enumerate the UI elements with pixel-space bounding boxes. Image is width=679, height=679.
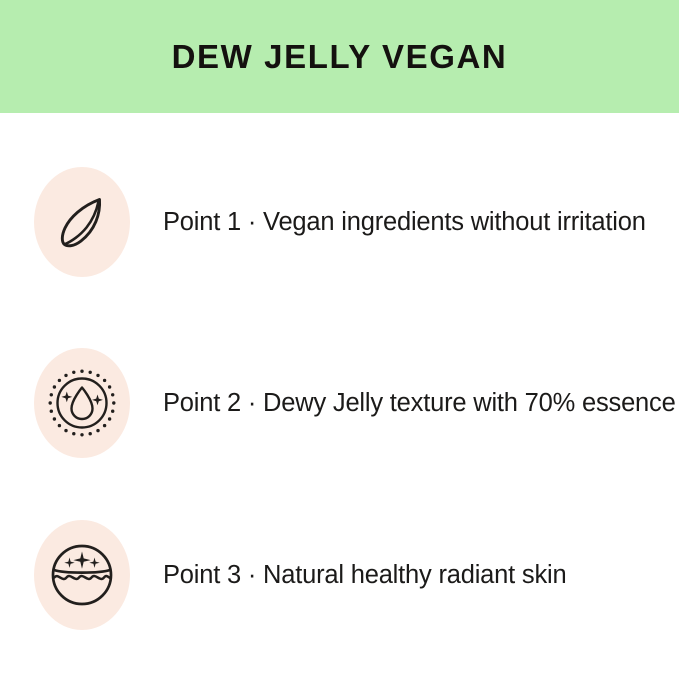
page-title: DEW JELLY VEGAN — [172, 40, 508, 73]
wave-line — [54, 576, 109, 579]
feature-text: Point 1 · Vegan ingredients without irri… — [163, 207, 679, 238]
list-item: Point 2 · Dewy Jelly texture with 70% es… — [0, 345, 679, 461]
feature-list: Point 1 · Vegan ingredients without irri… — [0, 113, 679, 679]
list-item: Point 1 · Vegan ingredients without irri… — [0, 164, 679, 280]
radiant-skin-icon — [50, 543, 114, 607]
sparkle-left-icon — [61, 392, 72, 403]
horizon-line — [54, 570, 110, 573]
product-feature-panel: DEW JELLY VEGAN Point 1 · Vegan ingredie… — [0, 0, 679, 679]
header-banner: DEW JELLY VEGAN — [0, 0, 679, 113]
list-item: Point 3 · Natural healthy radiant skin — [0, 517, 679, 633]
sparkle-center-icon — [73, 552, 90, 569]
leaf-icon-badge — [34, 167, 130, 277]
sparkle-right-icon — [92, 395, 103, 406]
water-droplet-sparkle-icon — [47, 368, 117, 438]
water-droplet-sparkle-icon-badge — [34, 348, 130, 458]
sparkle-left-icon — [64, 558, 74, 568]
droplet-shape — [72, 388, 93, 420]
leaf-icon — [49, 189, 115, 255]
sparkle-right-icon — [89, 558, 99, 568]
radiant-skin-icon-badge — [34, 520, 130, 630]
feature-text: Point 3 · Natural healthy radiant skin — [163, 560, 679, 591]
feature-text: Point 2 · Dewy Jelly texture with 70% es… — [163, 388, 679, 419]
